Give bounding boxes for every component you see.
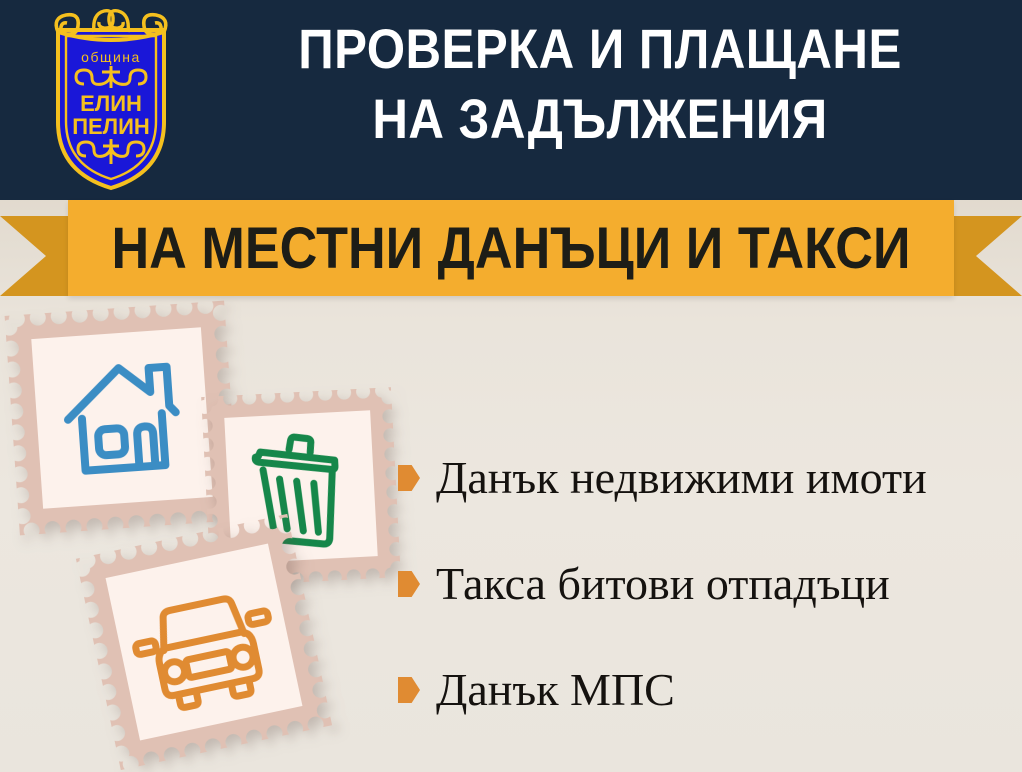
bullet-arrow-icon bbox=[398, 465, 420, 491]
coat-of-arms-icon: община ЕЛИН ПЕЛИН bbox=[32, 4, 190, 194]
stamp-paper bbox=[31, 327, 212, 508]
list-item-label: Данък МПС bbox=[436, 665, 675, 716]
list-item[interactable]: Такса битови отпадъци bbox=[398, 531, 1018, 637]
bullet-arrow-icon bbox=[398, 677, 420, 703]
logo-line-elin: ЕЛИН bbox=[80, 91, 142, 116]
tax-type-list: Данък недвижими имоти Такса битови отпад… bbox=[398, 425, 1018, 743]
list-item-label: Такса битови отпадъци bbox=[436, 559, 890, 610]
logo-line-obshtina: община bbox=[81, 49, 141, 65]
bullet-arrow-icon bbox=[398, 571, 420, 597]
ribbon-banner: НА МЕСТНИ ДАНЪЦИ И ТАКСИ bbox=[0, 200, 1022, 305]
list-item[interactable]: Данък МПС bbox=[398, 637, 1018, 743]
ribbon-label: НА МЕСТНИ ДАНЪЦИ И ТАКСИ bbox=[112, 200, 909, 296]
logo-line-pelin: ПЕЛИН bbox=[72, 114, 150, 139]
municipality-logo: община ЕЛИН ПЕЛИН bbox=[32, 4, 190, 194]
list-item-label: Данък недвижими имоти bbox=[436, 453, 927, 504]
list-item[interactable]: Данък недвижими имоти bbox=[398, 425, 1018, 531]
page-title: ПРОВЕРКА И ПЛАЩАНЕ НА ЗАДЪЛЖЕНИЯ bbox=[239, 14, 961, 154]
stamp-vehicle bbox=[76, 514, 332, 770]
poster-canvas: ПРОВЕРКА И ПЛАЩАНЕ НА ЗАДЪЛЖЕНИЯ община bbox=[0, 0, 1022, 772]
